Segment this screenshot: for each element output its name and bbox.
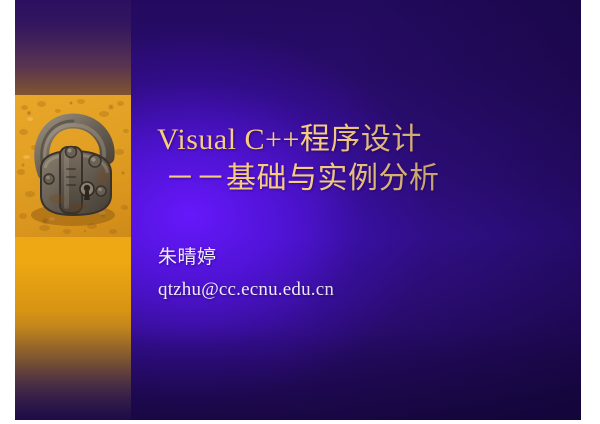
- author-email: qtzhu@cc.ecnu.edu.cn: [158, 274, 578, 306]
- rusty-padlock-on-sand-photo: [15, 95, 131, 237]
- presentation-slide: Visual C++程序设计 －－基础与实例分析 朱晴婷 qtzhu@cc.ec…: [15, 0, 581, 420]
- padlock-icon: [15, 95, 131, 237]
- title-line-2: －－基础与实例分析: [157, 159, 577, 198]
- slide-canvas: Visual C++程序设计 －－基础与实例分析 朱晴婷 qtzhu@cc.ec…: [0, 0, 600, 424]
- author-name: 朱晴婷: [158, 242, 578, 274]
- sidebar-decoration: [15, 0, 131, 420]
- title-line-1: Visual C++程序设计: [157, 120, 577, 159]
- slide-subtitle: 朱晴婷 qtzhu@cc.ecnu.edu.cn: [158, 242, 578, 306]
- slide-title: Visual C++程序设计 －－基础与实例分析: [157, 120, 577, 198]
